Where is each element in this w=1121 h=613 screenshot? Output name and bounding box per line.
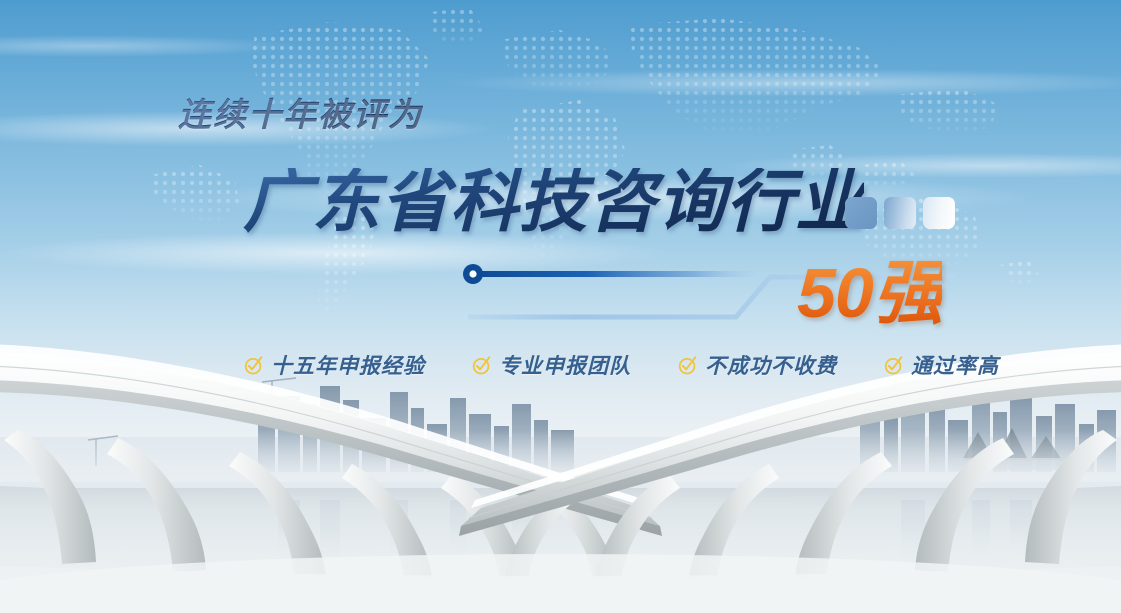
rank-badge-text: 50强: [797, 258, 942, 328]
eyebrow-text: 连续十年被评为: [178, 88, 423, 136]
feature-label: 不成功不收费: [705, 350, 837, 380]
feature-item: 专业申报团队: [471, 350, 631, 380]
feature-item: 通过率高: [883, 350, 999, 380]
check-circle-icon: [471, 355, 492, 376]
feature-item: 不成功不收费: [677, 350, 837, 380]
square-solid-icon: [845, 197, 877, 229]
decorative-squares: [845, 197, 955, 229]
feature-label: 专业申报团队: [499, 350, 631, 380]
feature-label: 十五年申报经验: [271, 350, 425, 380]
headline-text: 广东省科技咨询行业: [243, 168, 864, 236]
check-circle-icon: [243, 355, 264, 376]
node-dot-icon: [463, 264, 483, 284]
square-gradient-mid-icon: [884, 197, 916, 229]
square-gradient-light-icon: [923, 197, 955, 229]
feature-list: 十五年申报经验 专业申报团队 不成功不收费 通过率高: [243, 350, 999, 380]
feature-label: 通过率高: [911, 350, 999, 380]
feature-item: 十五年申报经验: [243, 350, 425, 380]
check-circle-icon: [677, 355, 698, 376]
check-circle-icon: [883, 355, 904, 376]
promo-banner: 连续十年被评为 广东省科技咨询行业 50强 十五年申报经验 专业申报团队: [0, 0, 1121, 613]
